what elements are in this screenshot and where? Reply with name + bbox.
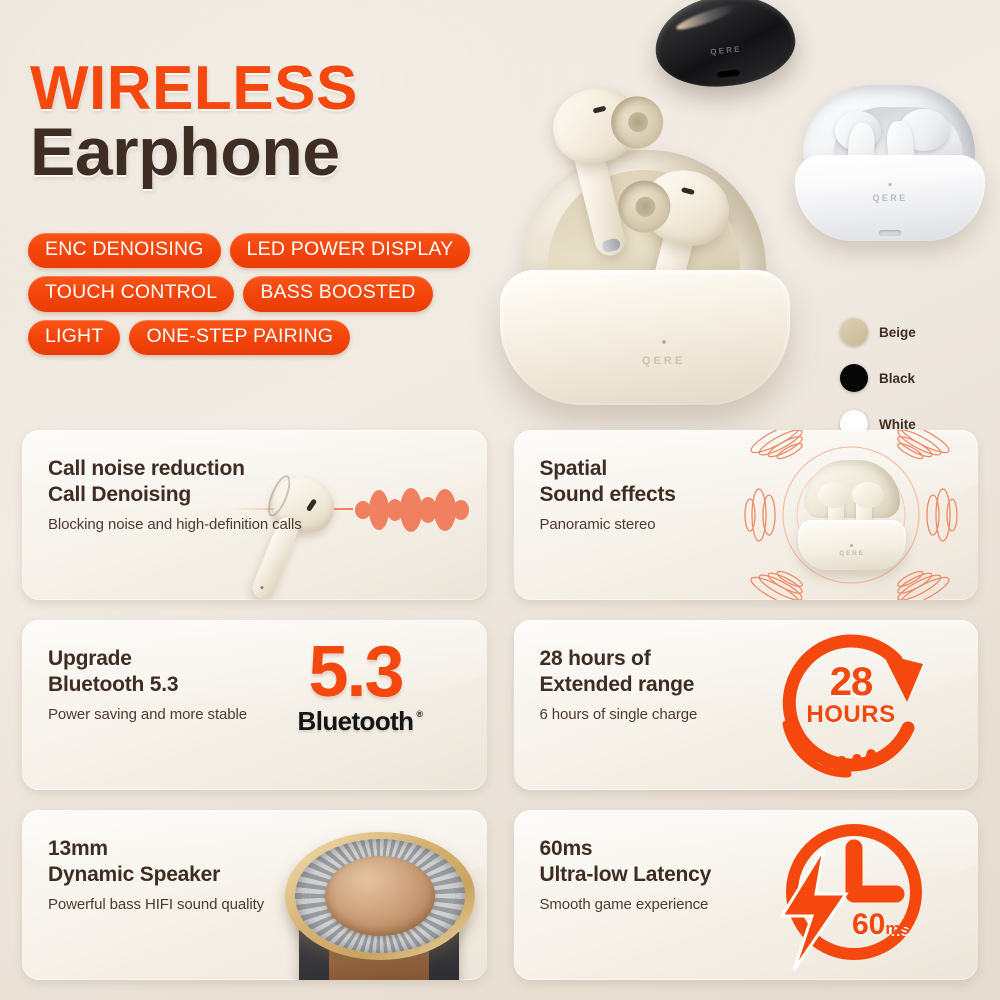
battery-hours-label: HOURS	[802, 701, 900, 729]
card-art-spatial-sound: QERE	[728, 430, 974, 600]
bluetooth-wordmark: Bluetooth®	[298, 706, 414, 737]
charging-case-white: QERE	[795, 85, 985, 240]
feature-pill-one-step-pairing[interactable]: ONE-STEP PAIRING	[129, 320, 350, 355]
brand-logo-case: QERE	[839, 550, 865, 557]
card-row-1: Call noise reduction Call Denoising Bloc…	[22, 430, 978, 600]
infographic-canvas: WIRELESS Earphone ENC DENOISING LED POWE…	[0, 0, 1000, 1000]
feature-card-bluetooth[interactable]: Upgrade Bluetooth 5.3 Power saving and m…	[22, 620, 487, 790]
battery-hours-number: 28	[802, 664, 900, 701]
card-row-2: Upgrade Bluetooth 5.3 Power saving and m…	[22, 620, 978, 790]
hero-title-block: WIRELESS Earphone	[30, 60, 500, 186]
swatch-label: Black	[879, 371, 915, 386]
feature-card-spatial-sound[interactable]: Spatial Sound effects Panoramic stereo	[514, 430, 979, 600]
card-text-block: 13mm Dynamic Speaker Powerful bass HIFI …	[48, 836, 264, 913]
battery-hours-badge: 28 HOURS	[756, 632, 946, 787]
earbud-head-right	[852, 482, 884, 508]
card-text-block: Upgrade Bluetooth 5.3 Power saving and m…	[48, 646, 247, 723]
feature-pill-row: LIGHT ONE-STEP PAIRING	[28, 320, 528, 355]
card-heading-line-1: Spatial	[540, 456, 676, 482]
latency-value-block: 60ms	[852, 908, 910, 942]
card-subtext: Power saving and more stable	[48, 706, 247, 723]
card-heading-line-1: Upgrade	[48, 646, 247, 672]
brand-logo-white-case: QERE	[872, 193, 907, 203]
color-swatch-beige[interactable]: Beige	[840, 318, 916, 346]
latency-number: 60	[852, 908, 885, 941]
card-subtext: Smooth game experience	[540, 896, 712, 913]
bluetooth-word-text: Bluetooth	[298, 706, 414, 736]
brand-logo-black-case: QERE	[710, 44, 742, 56]
case-base-beige	[500, 270, 790, 405]
latency-unit: ms	[885, 919, 910, 938]
registered-mark: ®	[416, 709, 422, 719]
brand-logo-beige-case: QERE	[642, 355, 685, 367]
feature-card-battery[interactable]: 28 hours of Extended range 6 hours of si…	[514, 620, 979, 790]
product-hero-art: QERE QERE	[470, 0, 1000, 420]
charging-case-illustration: QERE	[798, 460, 906, 570]
feature-card-driver[interactable]: 13mm Dynamic Speaker Powerful bass HIFI …	[22, 810, 487, 980]
charging-case-black: QERE	[651, 0, 800, 93]
latency-badge: 60ms	[764, 820, 944, 980]
title-line-2: Earphone	[30, 119, 500, 186]
led-indicator	[850, 544, 853, 547]
card-art-latency: 60ms	[728, 810, 978, 980]
card-heading-line-2: Extended range	[540, 672, 698, 698]
card-art-battery: 28 HOURS	[728, 620, 978, 790]
card-art-bluetooth: 5.3 Bluetooth®	[237, 620, 487, 790]
card-heading-line-1: Call noise reduction	[48, 456, 302, 482]
card-text-block: 28 hours of Extended range 6 hours of si…	[540, 646, 698, 723]
feature-pill-list: ENC DENOISING LED POWER DISPLAY TOUCH CO…	[28, 233, 528, 363]
card-heading-line-1: 13mm	[48, 836, 264, 862]
feature-pill-led-power-display[interactable]: LED POWER DISPLAY	[230, 233, 471, 268]
bluetooth-badge: 5.3 Bluetooth®	[271, 642, 441, 737]
feature-pill-row: ENC DENOISING LED POWER DISPLAY	[28, 233, 528, 268]
card-art-speaker-driver	[237, 810, 487, 980]
color-swatch-black[interactable]: Black	[840, 364, 916, 392]
usb-c-port-icon	[716, 68, 741, 78]
card-heading-line-2: Bluetooth 5.3	[48, 672, 247, 698]
battery-badge-text: 28 HOURS	[802, 664, 900, 729]
feature-card-call-denoising[interactable]: Call noise reduction Call Denoising Bloc…	[22, 430, 487, 600]
soundwave-icon	[355, 460, 477, 560]
card-subtext: Powerful bass HIFI sound quality	[48, 896, 264, 913]
clock-bolt-icon	[764, 820, 944, 975]
feature-card-latency[interactable]: 60ms Ultra-low Latency Smooth game exper…	[514, 810, 979, 980]
charging-case-beige: QERE	[490, 100, 780, 400]
usb-c-port-icon	[879, 230, 901, 236]
feature-pill-light[interactable]: LIGHT	[28, 320, 120, 355]
card-text-block: Call noise reduction Call Denoising Bloc…	[48, 456, 302, 533]
title-line-1: WIRELESS	[30, 60, 500, 117]
card-subtext: Blocking noise and high-definition calls	[48, 516, 302, 533]
feature-pill-row: TOUCH CONTROL BASS BOOSTED	[28, 276, 528, 311]
bluetooth-version-number: 5.3	[271, 642, 441, 704]
swatch-dot-black	[840, 364, 868, 392]
card-heading-line-2: Sound effects	[540, 482, 676, 508]
feature-card-grid: Call noise reduction Call Denoising Bloc…	[22, 430, 978, 1000]
feature-pill-bass-boosted[interactable]: BASS BOOSTED	[243, 276, 432, 311]
earbud-head-left	[818, 482, 850, 508]
card-heading-line-2: Call Denoising	[48, 482, 302, 508]
card-subtext: 6 hours of single charge	[540, 706, 698, 723]
driver-dome	[325, 856, 435, 936]
swatch-label: Beige	[879, 325, 916, 340]
card-subtext: Panoramic stereo	[540, 516, 676, 533]
led-indicator-beige	[662, 340, 666, 344]
card-heading-line-2: Ultra-low Latency	[540, 862, 712, 888]
card-text-block: 60ms Ultra-low Latency Smooth game exper…	[540, 836, 712, 913]
card-heading-line-2: Dynamic Speaker	[48, 862, 264, 888]
speaker-driver-illustration	[285, 832, 475, 980]
card-heading-line-1: 60ms	[540, 836, 712, 862]
card-text-block: Spatial Sound effects Panoramic stereo	[540, 456, 676, 533]
card-row-3: 13mm Dynamic Speaker Powerful bass HIFI …	[22, 810, 978, 980]
swatch-dot-beige	[840, 318, 868, 346]
feature-pill-touch-control[interactable]: TOUCH CONTROL	[28, 276, 234, 311]
card-heading-line-1: 28 hours of	[540, 646, 698, 672]
led-indicator-white	[889, 183, 892, 186]
feature-pill-enc-denoising[interactable]: ENC DENOISING	[28, 233, 221, 268]
